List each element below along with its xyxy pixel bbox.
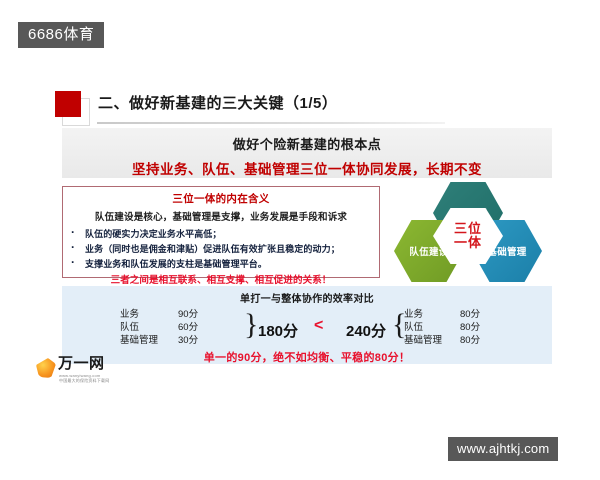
table-row: 队伍 60分	[120, 322, 198, 335]
headline-secondary: 坚持业务、队伍、基础管理三位一体协同发展，长期不变	[62, 158, 552, 178]
table-row: 业务 80分	[404, 309, 480, 322]
definition-bullet-list: 队伍的硬实力决定业务水平高低； 业务（同时也是佣金和津贴）促进队伍有效扩张且稳定…	[63, 227, 379, 270]
score-label: 业务	[404, 309, 460, 322]
comparison-band: 单打一与整体协作的效率对比 业务 90分 队伍 60分 基础管理 30分 } 1…	[62, 286, 552, 364]
score-value: 80分	[460, 322, 480, 335]
slide-canvas: 二、做好新基建的三大关键（1/5） 做好个险新基建的根本点 坚持业务、队伍、基础…	[48, 84, 552, 380]
definition-title: 三位一体的内在含义	[63, 191, 379, 206]
score-value: 80分	[460, 335, 480, 348]
list-item: 支撑业务和队伍发展的支柱是基础管理平台。	[63, 257, 379, 270]
slide-header: 二、做好新基建的三大关键（1/5）	[48, 84, 552, 128]
score-label: 业务	[120, 309, 178, 322]
score-value: 30分	[178, 335, 198, 348]
definition-closing: 三者之间是相互联系、相互支撑、相互促进的关系！	[63, 272, 379, 286]
wanyi-logo-subtext-line2: 中国最大的保险资料下载网	[59, 378, 109, 383]
header-divider	[97, 122, 445, 124]
definition-box: 三位一体的内在含义 队伍建设是核心，基础管理是支撑，业务发展是手段和诉求 队伍的…	[62, 186, 380, 278]
score-label: 基础管理	[404, 335, 460, 348]
table-row: 基础管理 80分	[404, 335, 480, 348]
header-red-square-icon	[55, 91, 81, 117]
comparison-title: 单打一与整体协作的效率对比	[62, 286, 552, 305]
wanyi-logo-subtext: www.wanyiwang.com 中国最大的保险资料下载网	[59, 373, 109, 384]
wanyi-logo-text: 万一网	[58, 356, 105, 372]
score-value: 90分	[178, 309, 198, 322]
left-brace-icon: }	[244, 310, 258, 340]
hexagon-center-line1: 三位	[454, 222, 482, 236]
left-score-table: 业务 90分 队伍 60分 基础管理 30分	[120, 309, 198, 347]
table-row: 基础管理 30分	[120, 335, 198, 348]
list-item: 队伍的硬实力决定业务水平高低；	[63, 227, 379, 240]
comparison-footer: 单一的90分，绝不如均衡、平稳的80分！	[62, 349, 552, 365]
comparison-row: 业务 90分 队伍 60分 基础管理 30分 } 180分 < 240分 { 业	[62, 309, 552, 351]
table-row: 业务 90分	[120, 309, 198, 322]
score-label: 基础管理	[120, 335, 178, 348]
list-item: 业务（同时也是佣金和津贴）促进队伍有效扩张且稳定的动力；	[63, 242, 379, 255]
three-in-one-hexagon-diagram: 业务发展 队伍建设 基础管理 三位 一体	[388, 182, 552, 282]
brand-watermark: 6686体育	[18, 22, 104, 48]
score-label: 队伍	[120, 322, 178, 335]
url-watermark: www.ajhtkj.com	[448, 437, 558, 461]
score-value: 80分	[460, 309, 480, 322]
headline-band: 做好个险新基建的根本点 坚持业务、队伍、基础管理三位一体协同发展，长期不变	[62, 128, 552, 178]
page-title: 二、做好新基建的三大关键（1/5）	[98, 92, 337, 113]
score-label: 队伍	[404, 322, 460, 335]
wanyi-logo: 万一网 www.wanyiwang.com 中国最大的保险资料下载网	[36, 356, 132, 382]
hexagon-center-line2: 一体	[454, 236, 482, 250]
definition-lead: 队伍建设是核心，基础管理是支撑，业务发展是手段和诉求	[63, 209, 379, 223]
right-total: 240分	[346, 320, 386, 341]
headline-primary: 做好个险新基建的根本点	[62, 134, 552, 153]
score-value: 60分	[178, 322, 198, 335]
comparison-operator: <	[314, 317, 323, 335]
table-row: 队伍 80分	[404, 322, 480, 335]
left-total: 180分	[258, 320, 298, 341]
right-score-table: 业务 80分 队伍 80分 基础管理 80分	[404, 309, 480, 347]
swoosh-icon	[36, 358, 56, 378]
